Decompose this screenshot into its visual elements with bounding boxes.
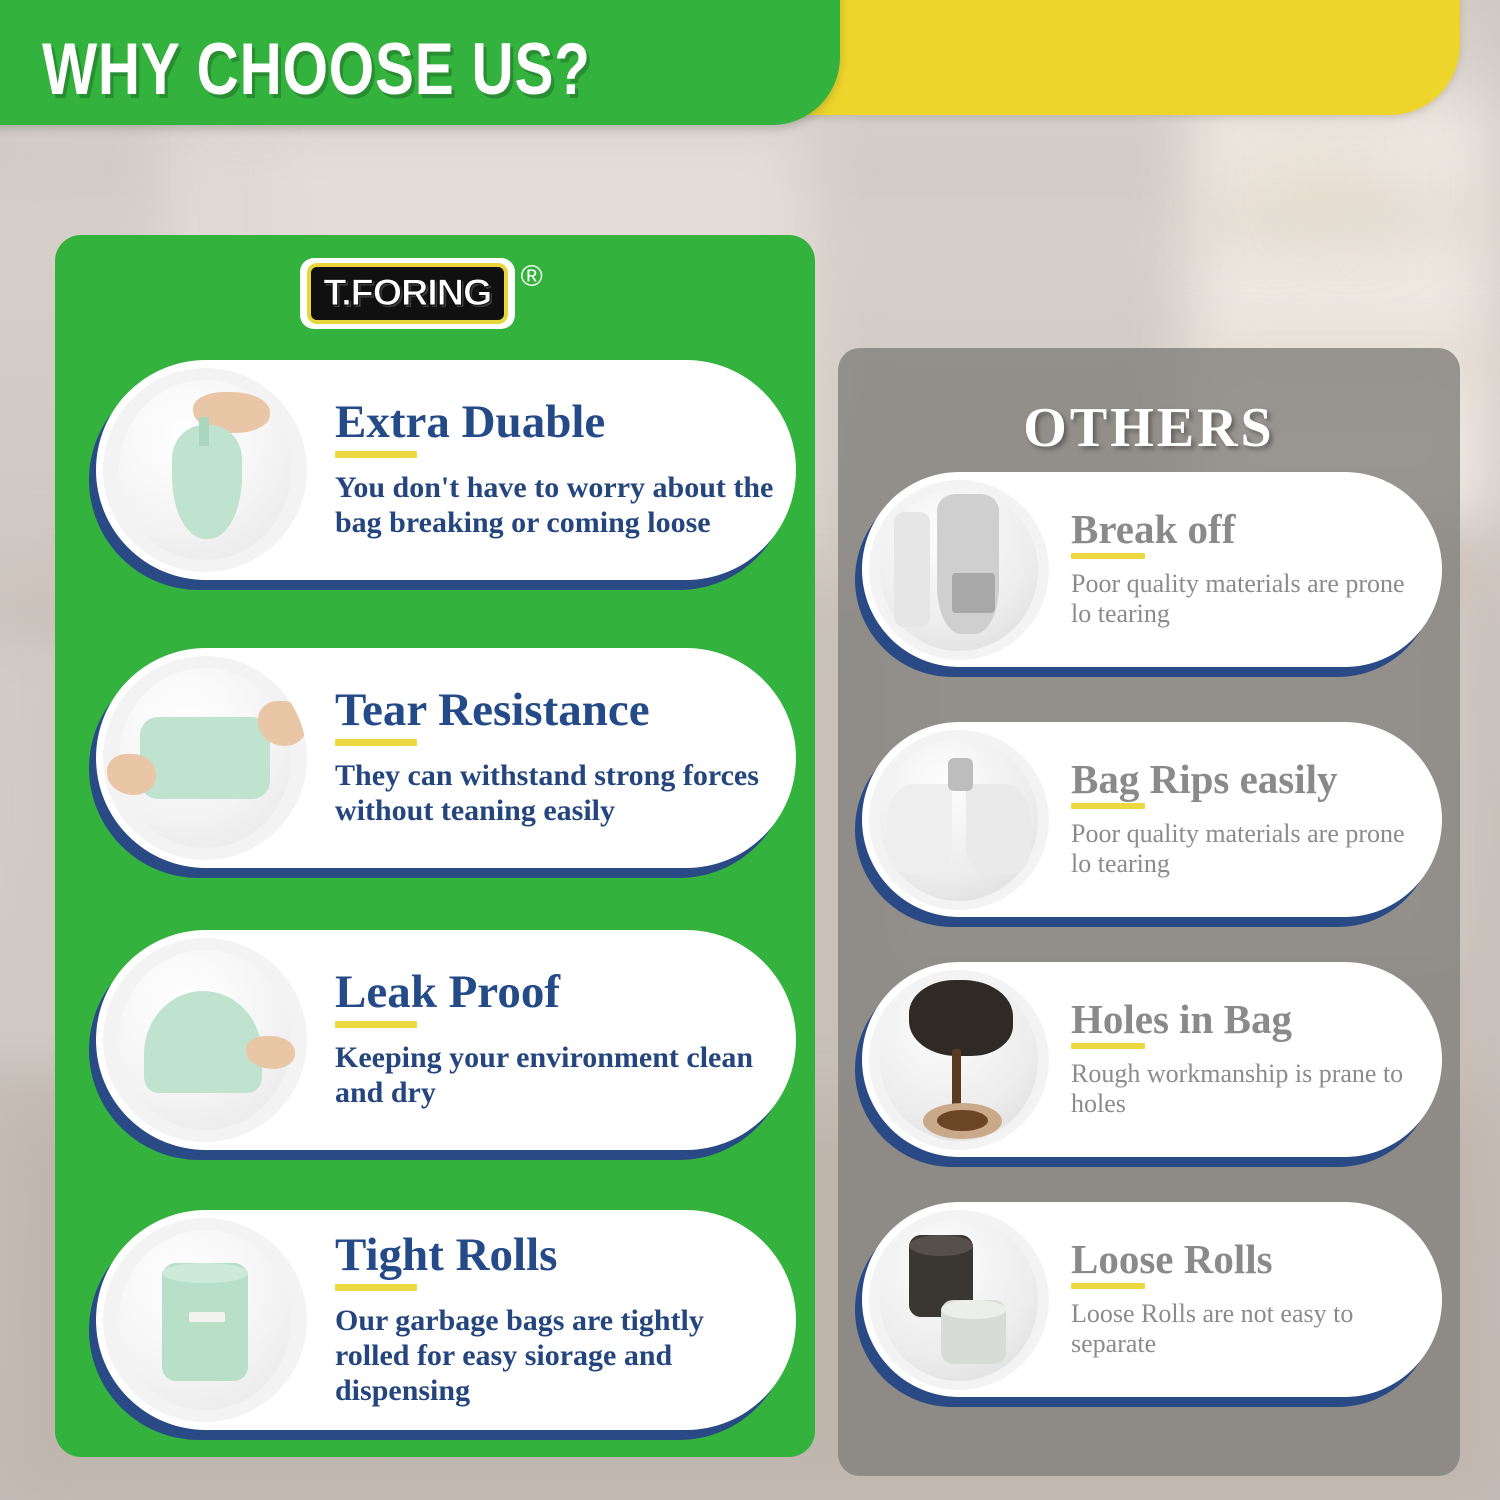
title-underline-accent [1071,803,1145,809]
competitor-card-text: Bag Rips easily Poor quality materials a… [1049,759,1442,880]
loose-bag-rolls-photo [869,1210,1049,1390]
feature-card-text: Tight Rolls Our garbage bags are tightly… [307,1232,796,1408]
competitor-card-description: Poor quality materials are prone lo tear… [1071,819,1426,880]
feature-card[interactable]: Tear Resistance They can withstand stron… [96,648,796,868]
competitor-card-text: Loose Rolls Loose Rolls are not easy to … [1049,1239,1442,1360]
feature-card-title: Extra Duable [335,399,780,447]
others-panel-title: OTHERS [838,396,1460,460]
competitor-card[interactable]: Break off Poor quality materials are pro… [862,472,1442,667]
hand-holding-green-bag-photo [103,368,307,572]
competitor-card-title: Loose Rolls [1071,1239,1426,1281]
feature-card-description: Keeping your environment clean and dry [335,1040,780,1110]
logo-plate: T.FORING [300,258,515,329]
logo-text: T.FORING [323,272,491,314]
feature-card-title: Tear Resistance [335,687,780,735]
title-underline-accent [1071,553,1145,559]
feature-card[interactable]: Tight Rolls Our garbage bags are tightly… [96,1210,796,1430]
logo-inner-frame: T.FORING [307,263,508,324]
registered-trademark-icon: ® [521,262,543,292]
title-underline-accent [335,451,417,458]
competitor-card[interactable]: Loose Rolls Loose Rolls are not easy to … [862,1202,1442,1397]
feature-card-title: Tight Rolls [335,1232,780,1280]
hands-stretching-green-bag-photo [103,656,307,860]
competitor-card-text: Break off Poor quality materials are pro… [1049,509,1442,630]
competitor-card-description: Poor quality materials are prone lo tear… [1071,569,1426,630]
leaking-black-bag-photo [869,970,1049,1150]
title-underline-accent [335,1284,417,1291]
background-shelf-board-1 [1200,210,1485,228]
title-underline-accent [335,1021,417,1028]
feature-card[interactable]: Extra Duable You don't have to worry abo… [96,360,796,580]
competitor-card-title: Bag Rips easily [1071,759,1426,801]
feature-card-text: Extra Duable You don't have to worry abo… [307,399,796,540]
feature-card-text: Leak Proof Keeping your environment clea… [307,969,796,1110]
clear-bag-breaking-photo [869,480,1049,660]
tight-green-bag-roll-photo [103,1218,307,1422]
feature-card-text: Tear Resistance They can withstand stron… [307,687,796,828]
brand-logo: T.FORING ® [300,258,543,329]
feature-card-description: You don't have to worry about the bag br… [335,470,780,540]
competitor-card-description: Loose Rolls are not easy to separate [1071,1299,1426,1360]
feature-card-description: Our garbage bags are tightly rolled for … [335,1303,780,1408]
ripped-white-bag-photo [869,730,1049,910]
competitor-card[interactable]: Bag Rips easily Poor quality materials a… [862,722,1442,917]
competitor-card-title: Break off [1071,509,1426,551]
competitor-card-description: Rough workmanship is prane to holes [1071,1059,1426,1120]
page-title: WHY CHOOSE US? [42,28,591,111]
background-jar-2 [1330,150,1370,210]
competitor-card-text: Holes in Bag Rough workmanship is prane … [1049,999,1442,1120]
title-underline-accent [1071,1043,1145,1049]
competitor-card-title: Holes in Bag [1071,999,1426,1041]
background-jar-1 [1250,140,1298,210]
title-underline-accent [335,739,417,746]
feature-card-title: Leak Proof [335,969,780,1017]
competitor-card[interactable]: Holes in Bag Rough workmanship is prane … [862,962,1442,1157]
green-bag-bundle-photo [103,938,307,1142]
feature-card[interactable]: Leak Proof Keeping your environment clea… [96,930,796,1150]
title-underline-accent [1071,1283,1145,1289]
feature-card-description: They can withstand strong forces without… [335,758,780,828]
